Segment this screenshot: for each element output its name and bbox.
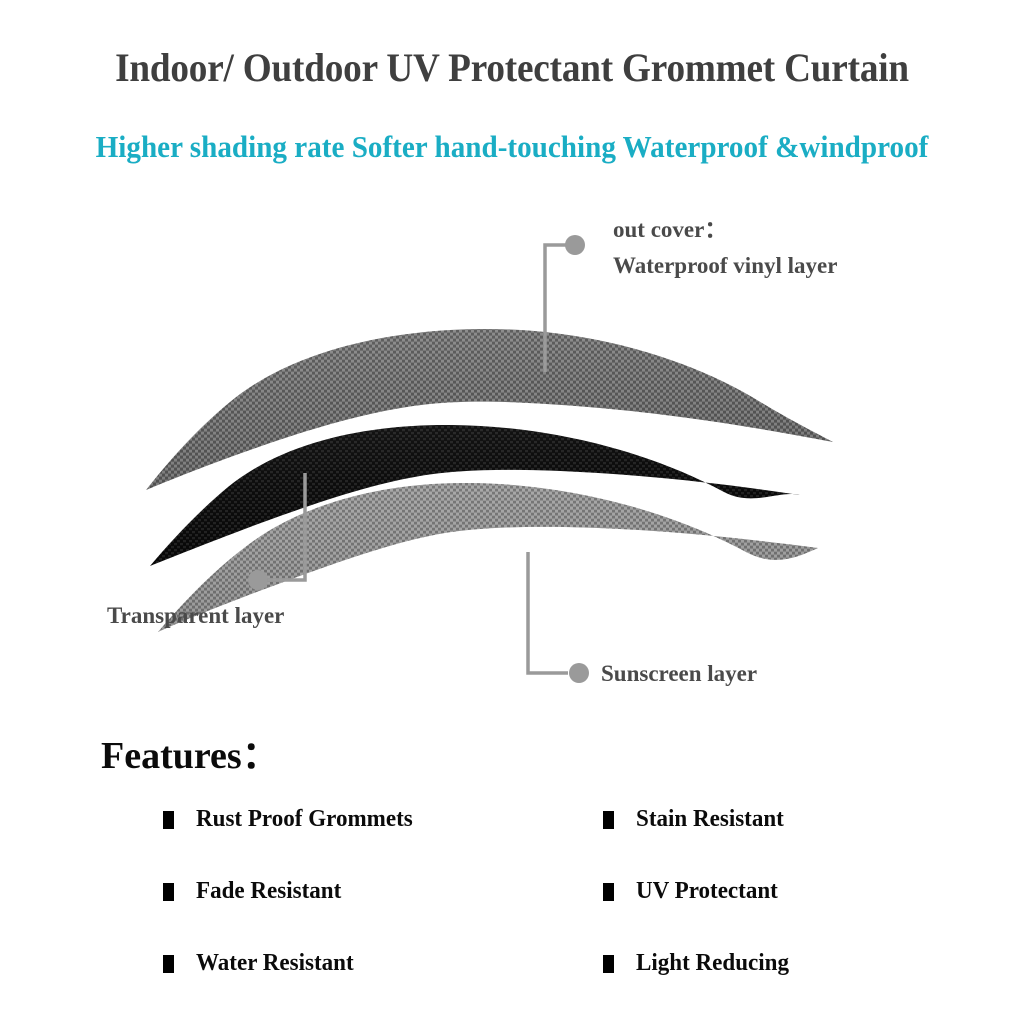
feature-item: Fade Resistant bbox=[163, 878, 603, 905]
feature-row: Fade Resistant UV Protectant bbox=[163, 878, 923, 950]
feature-label: UV Protectant bbox=[636, 878, 778, 905]
callout-out-cover-line2: Waterproof vinyl layer bbox=[613, 248, 837, 284]
leader-out-cover bbox=[545, 235, 585, 372]
callout-transparent-layer: Transparent layer bbox=[107, 598, 284, 634]
callout-out-cover-line1: out cover： bbox=[613, 217, 727, 242]
bullet-icon bbox=[603, 811, 614, 829]
bullet-icon bbox=[603, 955, 614, 973]
bullet-icon bbox=[163, 811, 174, 829]
page-subtitle: Higher shading rate Softer hand-touching… bbox=[31, 129, 994, 165]
feature-label: Water Resistant bbox=[196, 950, 354, 977]
feature-label: Rust Proof Grommets bbox=[196, 806, 413, 833]
feature-label: Stain Resistant bbox=[636, 806, 784, 833]
feature-row: Water Resistant Light Reducing bbox=[163, 950, 923, 1022]
features-heading: Features： bbox=[101, 724, 280, 779]
bullet-icon bbox=[163, 883, 174, 901]
feature-item: Light Reducing bbox=[603, 950, 923, 977]
feature-item: Rust Proof Grommets bbox=[163, 806, 603, 833]
feature-label: Light Reducing bbox=[636, 950, 789, 977]
layer-transparent bbox=[120, 400, 860, 600]
leader-sunscreen bbox=[528, 552, 589, 683]
feature-item: UV Protectant bbox=[603, 878, 923, 905]
features-list: Rust Proof Grommets Stain Resistant Fade… bbox=[163, 806, 923, 1022]
feature-row: Rust Proof Grommets Stain Resistant bbox=[163, 806, 923, 878]
bullet-icon bbox=[163, 955, 174, 973]
product-infographic: Indoor/ Outdoor UV Protectant Grommet Cu… bbox=[0, 0, 1024, 1024]
layer-out-cover bbox=[120, 310, 860, 510]
feature-item: Water Resistant bbox=[163, 950, 603, 977]
bullet-icon bbox=[603, 883, 614, 901]
feature-item: Stain Resistant bbox=[603, 806, 923, 833]
callout-sunscreen-layer: Sunscreen layer bbox=[601, 656, 757, 692]
feature-label: Fade Resistant bbox=[196, 878, 341, 905]
leader-transparent bbox=[248, 473, 305, 590]
page-title: Indoor/ Outdoor UV Protectant Grommet Cu… bbox=[36, 44, 988, 91]
callout-out-cover: out cover： Waterproof vinyl layer bbox=[613, 212, 837, 284]
